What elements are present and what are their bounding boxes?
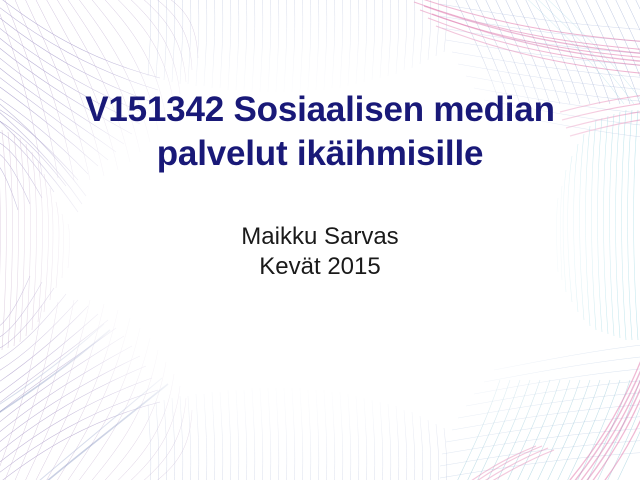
presentation-slide: V151342 Sosiaalisen median palvelut ikäi… (0, 0, 640, 480)
title-line-2: palvelut ikäihmisille (52, 132, 588, 176)
title-line-1: V151342 Sosiaalisen median (52, 88, 588, 132)
slide-subtitle: Maikku Sarvas Kevät 2015 (0, 222, 640, 282)
author-name: Maikku Sarvas (0, 222, 640, 252)
slide-content: V151342 Sosiaalisen median palvelut ikäi… (0, 0, 640, 480)
slide-title: V151342 Sosiaalisen median palvelut ikäi… (0, 88, 640, 176)
term-label: Kevät 2015 (0, 252, 640, 282)
